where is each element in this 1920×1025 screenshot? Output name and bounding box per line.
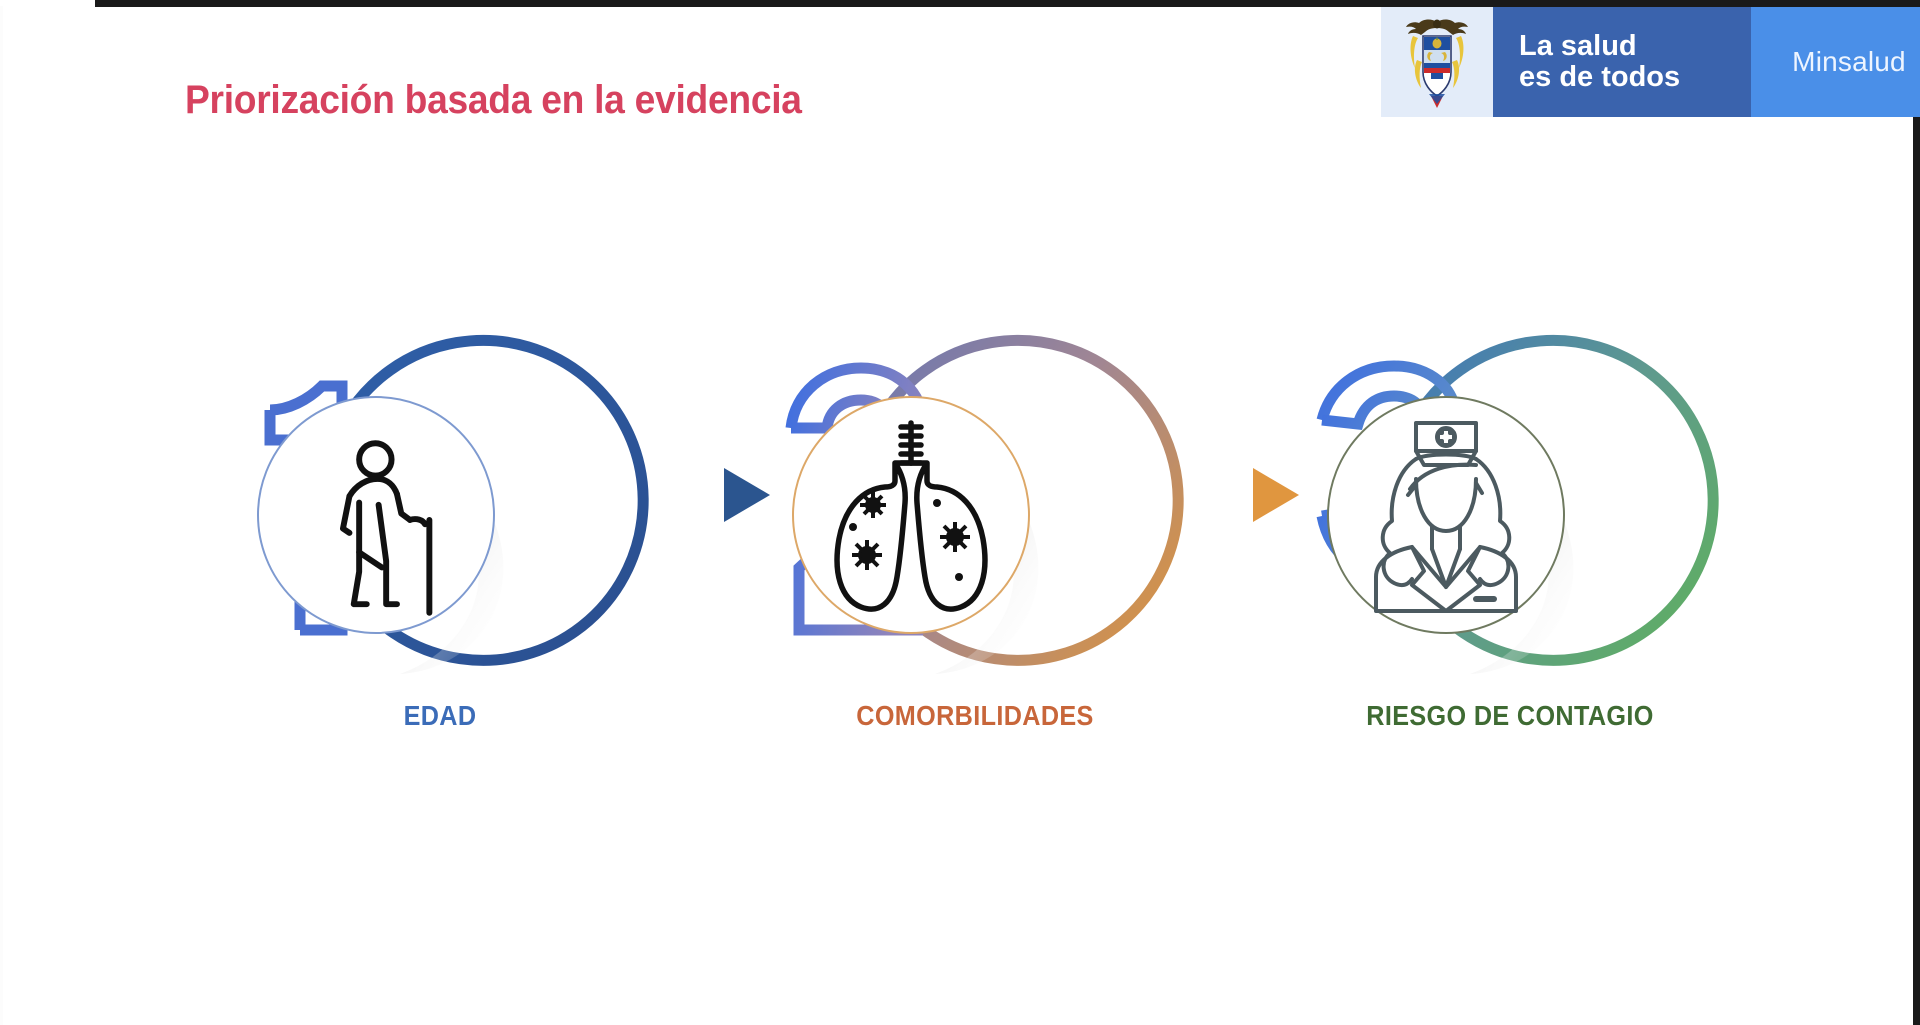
colombia-coat-of-arms-icon: [1381, 7, 1493, 117]
step-2-graphic: [765, 300, 1185, 700]
priorization-steps: EDAD: [0, 300, 1920, 820]
step-2-label: COMORBILIDADES: [786, 700, 1164, 732]
step-3-riesgo-de-contagio: RIESGO DE CONTAGIO: [1300, 300, 1720, 770]
banner-brand-label: Minsalud: [1792, 46, 1906, 78]
banner-tagline: La salud es de todos: [1493, 7, 1751, 117]
step-2-comorbilidades: COMORBILIDADES: [765, 300, 1185, 770]
step-1-edad: EDAD: [230, 300, 650, 770]
page-title: Priorización basada en la evidencia: [185, 78, 802, 123]
step-1-label: EDAD: [251, 700, 629, 732]
banner-tagline-line2: es de todos: [1519, 62, 1680, 93]
banner-brand: Minsalud: [1751, 7, 1920, 117]
arrow-2-to-3: [1245, 460, 1305, 530]
step-1-graphic: [230, 300, 650, 700]
step-3-graphic: [1300, 300, 1720, 700]
banner-tagline-line1: La salud: [1519, 31, 1680, 62]
slide-top-border: [95, 0, 1920, 7]
slide-canvas: Priorización basada en la evidencia: [0, 0, 1920, 1025]
step-3-label: RIESGO DE CONTAGIO: [1321, 700, 1699, 732]
minsalud-banner: La salud es de todos Minsalud: [1381, 7, 1920, 117]
